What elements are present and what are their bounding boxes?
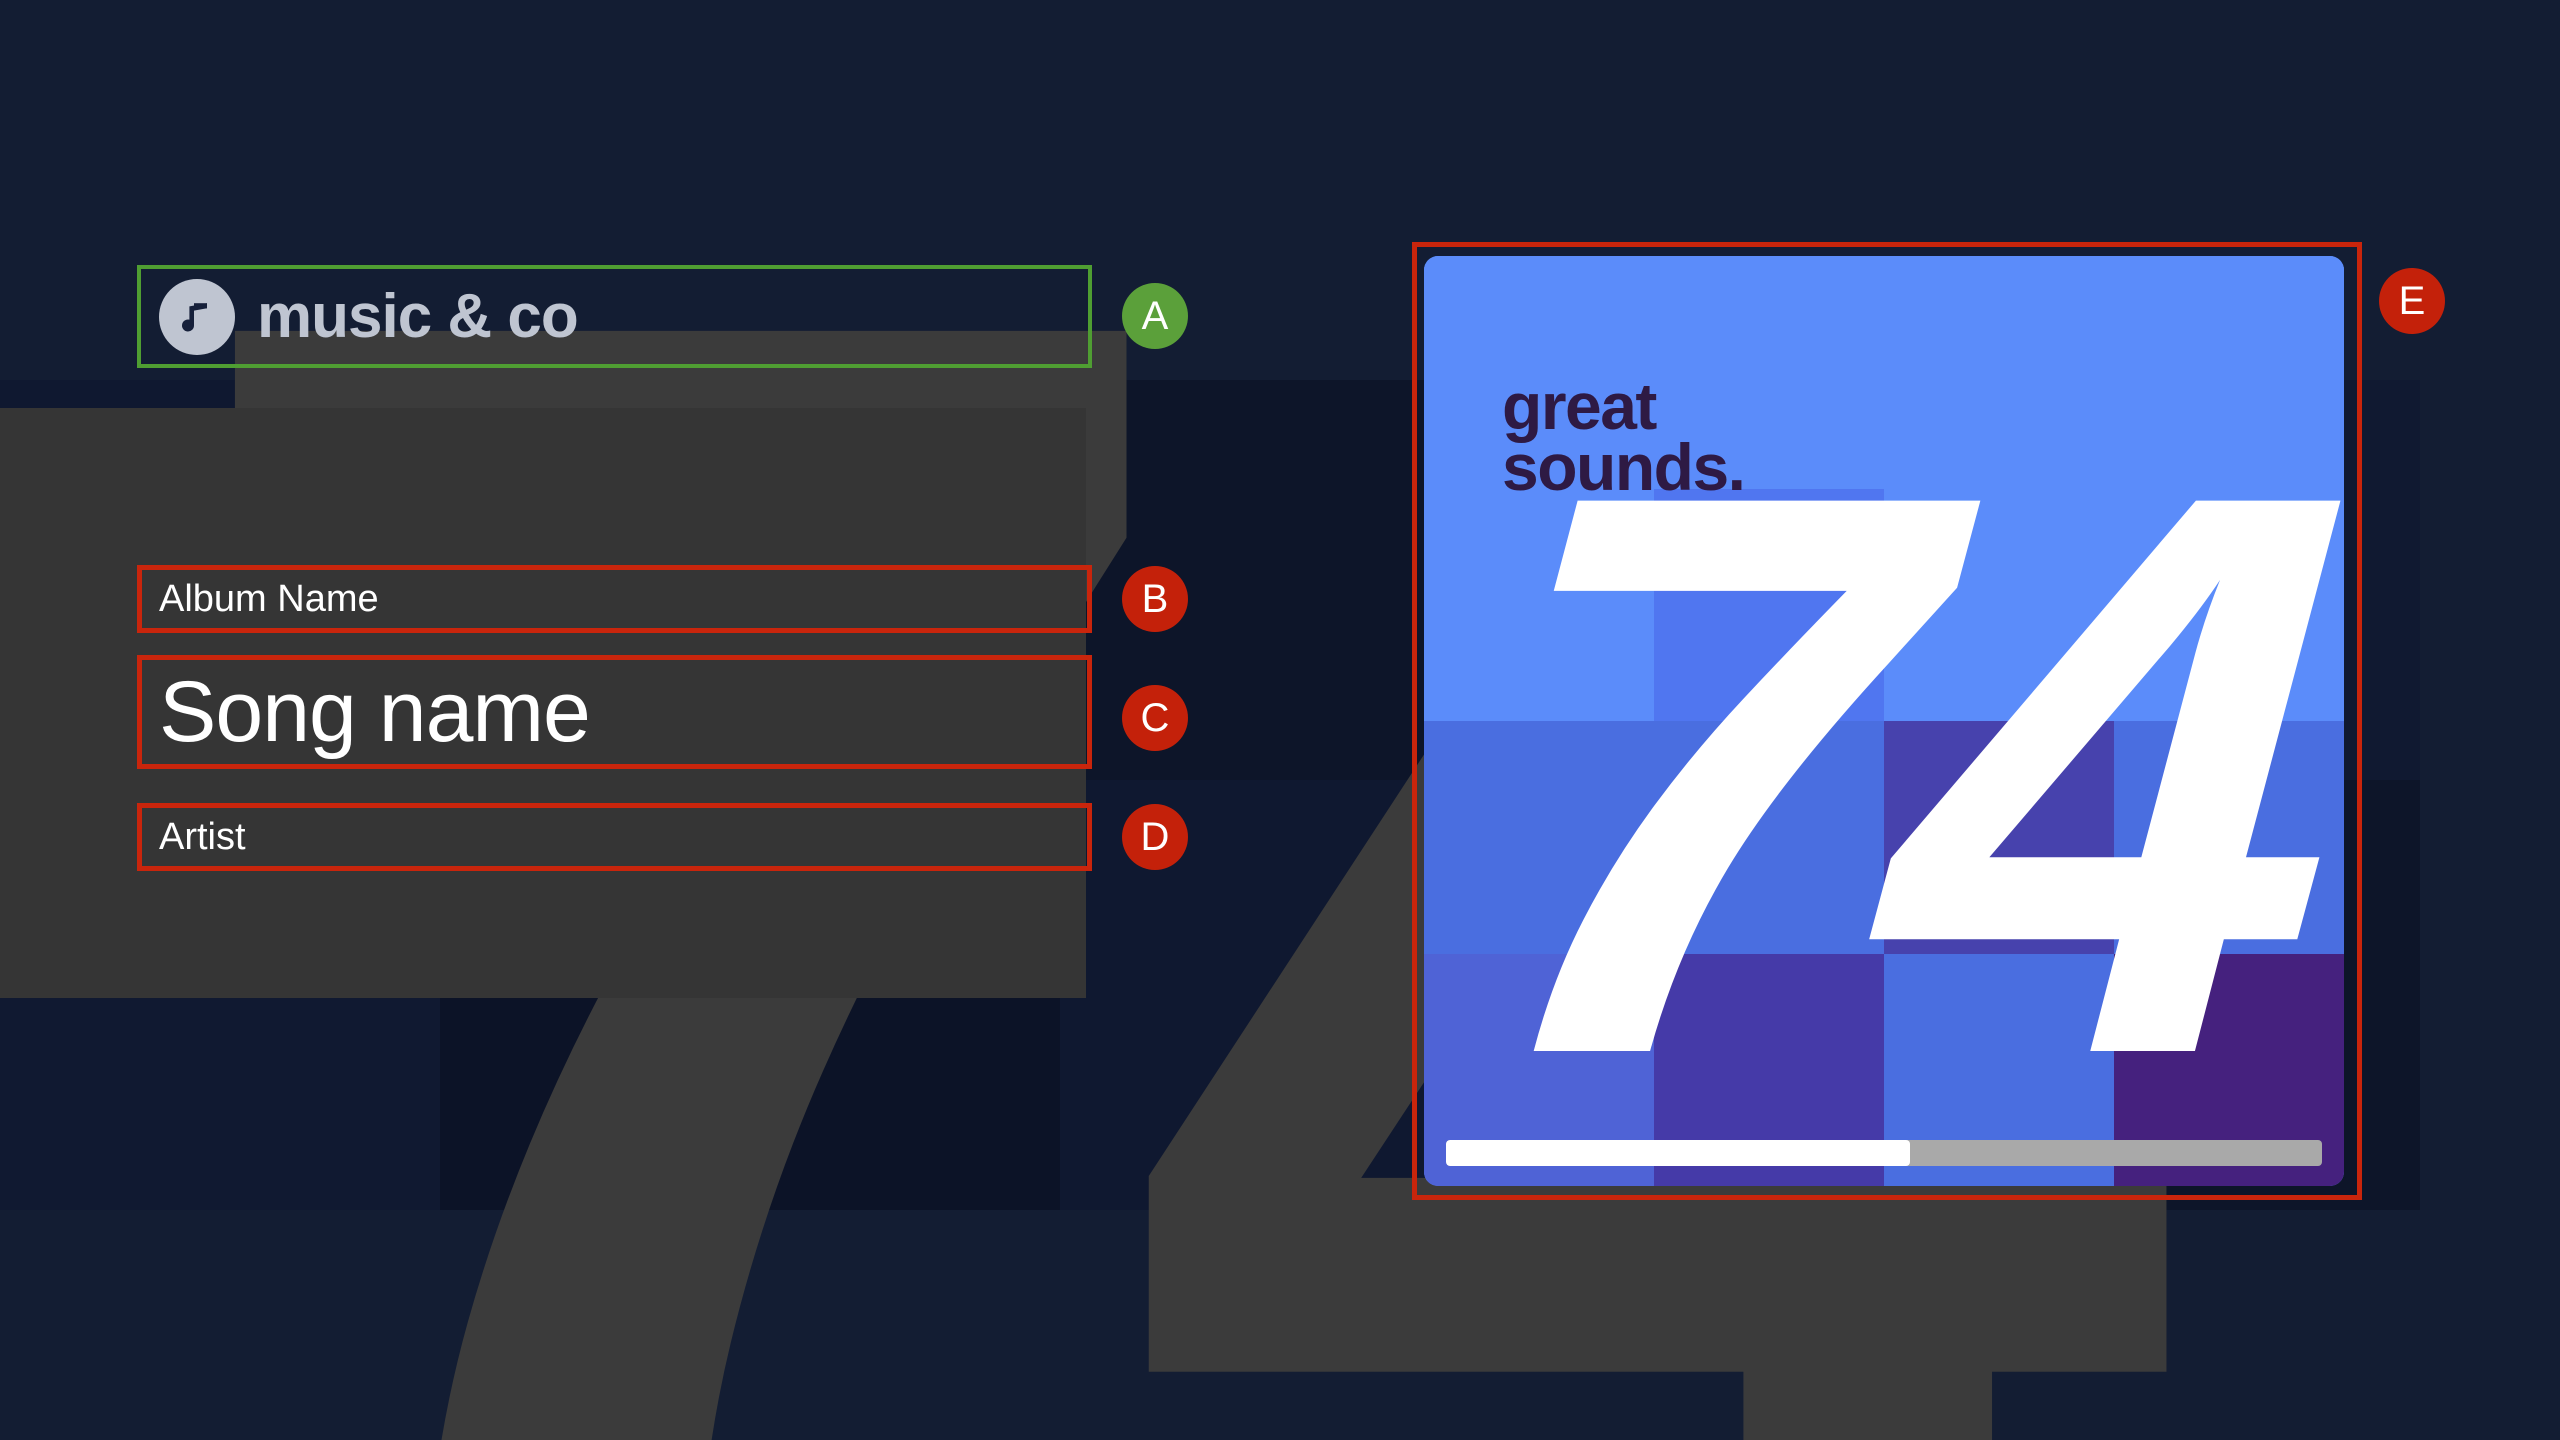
artist-name-value: Artist (159, 818, 246, 856)
annotation-badge-d-label: D (1141, 817, 1170, 857)
annotation-badge-a: A (1122, 283, 1188, 349)
brand-logo[interactable]: music & co (137, 265, 1092, 368)
music-note-icon (159, 279, 235, 355)
annotation-badge-d: D (1122, 804, 1188, 870)
album-name-value: Album Name (159, 580, 379, 618)
annotation-badge-b-label: B (1142, 579, 1169, 619)
annotation-badge-e-label: E (2399, 281, 2426, 321)
playback-progress-fill (1446, 1140, 1910, 1166)
annotation-badge-b: B (1122, 566, 1188, 632)
album-name-field[interactable]: Album Name (137, 565, 1092, 633)
playback-progress-bar[interactable] (1446, 1140, 2322, 1166)
annotation-badge-c: C (1122, 685, 1188, 751)
song-name-value: Song name (159, 669, 590, 755)
annotation-badge-c-label: C (1141, 698, 1170, 738)
player-screen: 74 music & co Album Name Song name Artis… (0, 0, 2560, 1440)
annotation-badge-e: E (2379, 268, 2445, 334)
annotation-badge-a-label: A (1142, 296, 1169, 336)
album-art-caption: great sounds. (1502, 376, 1745, 497)
brand-name: music & co (257, 286, 578, 348)
song-name-field[interactable]: Song name (137, 655, 1092, 769)
artist-name-field[interactable]: Artist (137, 803, 1092, 871)
album-art[interactable]: 74 great sounds. (1424, 256, 2344, 1186)
